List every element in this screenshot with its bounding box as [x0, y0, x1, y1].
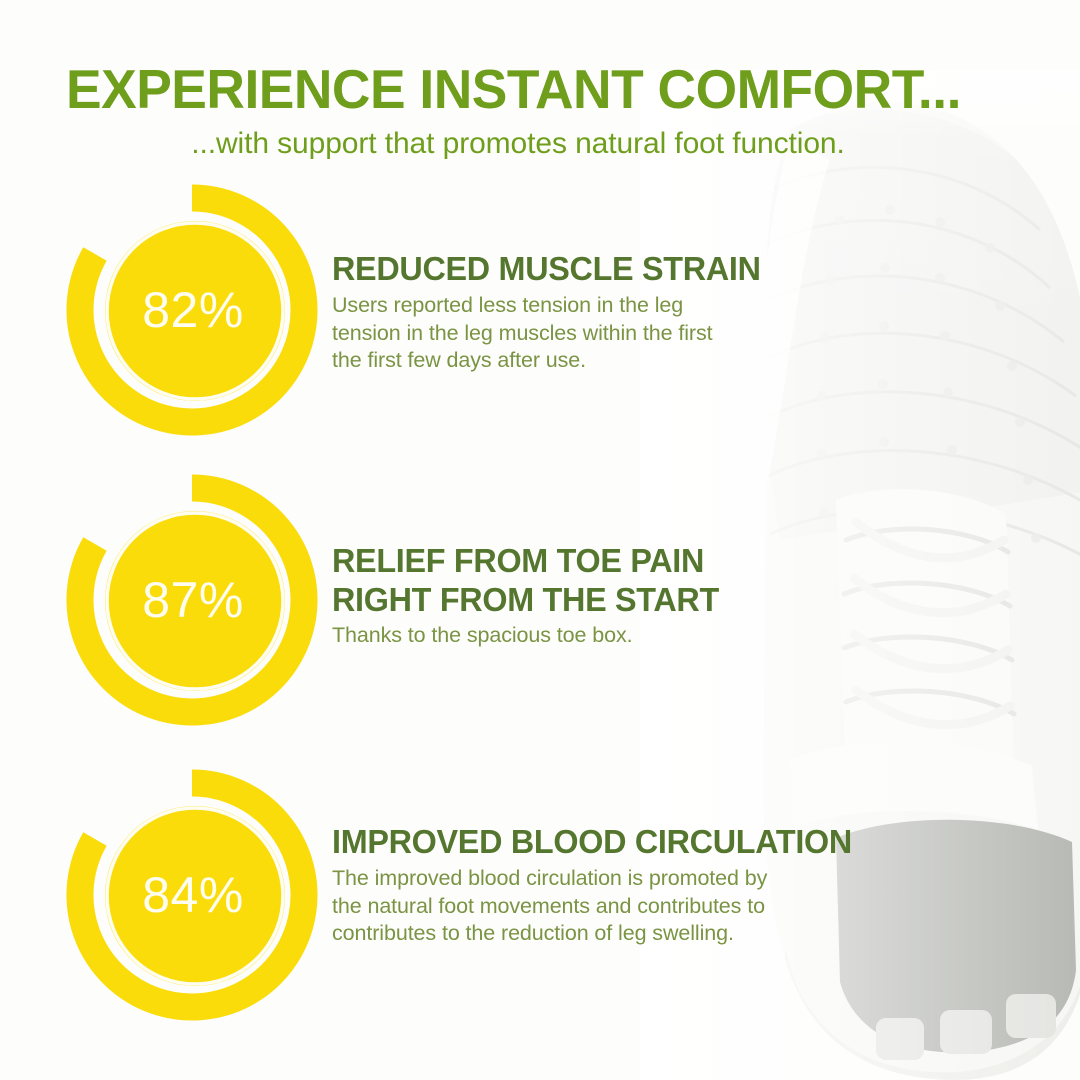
stat-body-line-3: the first few days after use. — [332, 347, 1012, 375]
stat-description: Thanks to the spacious toe box. — [332, 622, 1012, 650]
stat-body-line-3: contributes to the reduction of leg swel… — [332, 920, 1012, 948]
stat-title-line-2: RIGHT FROM THE START — [332, 581, 998, 620]
stat-body-line-1: The improved blood circulation is promot… — [332, 865, 1012, 893]
gauge-percent-label: 82% — [62, 180, 322, 440]
stat-description: The improved blood circulation is promot… — [332, 865, 1012, 949]
stat-body-line-1: Users reported less tension in the leg — [332, 292, 1012, 320]
stat-title: RELIEF FROM TOE PAIN RIGHT FROM THE STAR… — [332, 542, 998, 619]
page-title: EXPERIENCE INSTANT COMFORT... — [66, 62, 997, 117]
stat-body-line-2: tension in the leg muscles within the fi… — [332, 320, 1012, 348]
stat-title: IMPROVED BLOOD CIRCULATION — [332, 823, 998, 862]
stat-body-line-1: Thanks to the spacious toe box. — [332, 622, 1012, 650]
infographic-poster: EXPERIENCE INSTANT COMFORT... ...with su… — [0, 0, 1080, 1080]
stat-body-line-2: the natural foot movements and contribut… — [332, 893, 1012, 921]
page-subtitle: ...with support that promotes natural fo… — [0, 126, 1036, 162]
stat-title: REDUCED MUSCLE STRAIN — [332, 250, 998, 289]
stat-title-line-1: RELIEF FROM TOE PAIN — [332, 542, 704, 579]
stat-text-block: RELIEF FROM TOE PAIN RIGHT FROM THE STAR… — [332, 542, 1012, 650]
stat-text-block: IMPROVED BLOOD CIRCULATION The improved … — [332, 823, 1012, 948]
gauge-percent-label: 84% — [62, 765, 322, 1025]
stat-row: 87% RELIEF FROM TOE PAIN RIGHT FROM THE … — [0, 470, 1080, 730]
gauge-percent-label: 87% — [62, 470, 322, 730]
stat-text-block: REDUCED MUSCLE STRAIN Users reported les… — [332, 250, 1012, 375]
stat-title-line-1: IMPROVED BLOOD CIRCULATION — [332, 823, 852, 860]
progress-gauge-0: 82% — [62, 180, 322, 440]
stat-row: 82% REDUCED MUSCLE STRAIN Users reported… — [0, 180, 1080, 440]
stat-title-line-1: REDUCED MUSCLE STRAIN — [332, 250, 761, 287]
progress-gauge-2: 84% — [62, 765, 322, 1025]
stat-row: 84% IMPROVED BLOOD CIRCULATION The impro… — [0, 765, 1080, 1025]
stat-description: Users reported less tension in the leg t… — [332, 292, 1012, 376]
progress-gauge-1: 87% — [62, 470, 322, 730]
